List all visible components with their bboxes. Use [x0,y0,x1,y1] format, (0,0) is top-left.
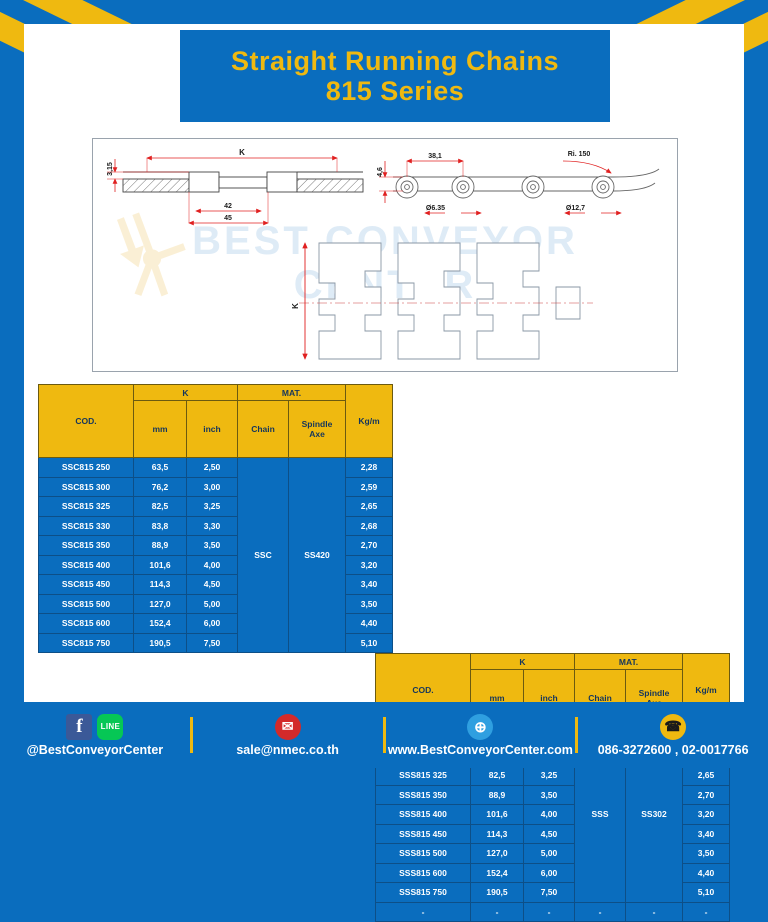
phone-icon[interactable]: ☎ [660,714,686,740]
cell-mm: 83,8 [134,516,187,536]
header-chain: Chain [238,401,289,458]
cell-mm: 76,2 [134,477,187,497]
cell-mm: 63,5 [134,458,187,478]
cell-cod: SSC815 250 [39,458,134,478]
title-line-2: 815 Series [326,76,465,106]
cell-kgm: 4,40 [346,614,393,634]
cell-kgm: 2,70 [346,536,393,556]
facebook-icon[interactable]: f [66,714,92,740]
cell-cod: SSS815 500 [376,844,471,864]
cell-mm: - [471,902,524,922]
cell-mm: 82,5 [134,497,187,517]
footer-social[interactable]: f LINE @BestConveyorCenter [0,714,190,757]
cell-mm: 152,4 [134,614,187,634]
globe-icon[interactable]: ⊕ [467,714,493,740]
dim-k-vertical: K [291,303,300,309]
cell-mm: 82,5 [471,766,524,786]
dim-roller-diameter: Ø12,7 [566,205,585,212]
cell-inch: 6,00 [187,614,238,634]
website-label: www.BestConveyorCenter.com [388,743,573,757]
cell-kgm: 3,50 [683,844,730,864]
table-header-row-1: COD. K MAT. Kg/m [39,385,393,401]
dim-radius: Ri. 150 [568,151,591,158]
side-section-view: 3,15 K 42 45 [107,148,363,223]
cell-inch: 7,50 [524,883,575,903]
cell-inch: 5,00 [524,844,575,864]
spec-table-ssc: COD. K MAT. Kg/m mm inch Chain Spindle A… [38,384,393,653]
contact-footer: f LINE @BestConveyorCenter ✉ sale@nmec.c… [0,702,768,768]
cell-mm: 127,0 [134,594,187,614]
cell-inch: 4,50 [187,575,238,595]
cell-mm: 114,3 [134,575,187,595]
cell-kgm: 2,28 [346,458,393,478]
drawing-svg: 3,15 K 42 45 [93,139,677,371]
cell-cod: SSC815 600 [39,614,134,634]
line-icon[interactable]: LINE [97,714,123,740]
chain-side-view: 4,6 38,1 Ri. 150 Ø6.35 Ø12,7 [377,151,659,213]
cell-inch: 3,50 [524,785,575,805]
cell-inch: 3,25 [187,497,238,517]
cell-cod: SSS815 750 [376,883,471,903]
header-axe: Axe [289,429,345,439]
cell-spindle: - [626,902,683,922]
cell-cod: SSS815 400 [376,805,471,825]
cell-inch: 2,50 [187,458,238,478]
cell-kgm: 3,40 [683,824,730,844]
table-row: ------ [376,902,730,922]
cell-inch: 3,00 [187,477,238,497]
cell-kgm: 5,10 [683,883,730,903]
cell-cod: - [376,902,471,922]
footer-email[interactable]: ✉ sale@nmec.co.th [193,714,383,757]
dim-k-horizontal: K [239,148,245,157]
cell-kgm: 2,65 [683,766,730,786]
email-label: sale@nmec.co.th [236,743,339,757]
dim-45: 45 [224,215,232,222]
cell-cod: SSC815 450 [39,575,134,595]
cell-inch: 4,50 [524,824,575,844]
header-mat-group: MAT. [575,654,683,670]
header-k-group: K [471,654,575,670]
cell-kgm: 3,20 [683,805,730,825]
cell-inch: 6,00 [524,863,575,883]
cell-kgm: 2,70 [683,785,730,805]
cell-kgm: 2,59 [346,477,393,497]
table-body-ssc: SSC815 25063,52,50SSCSS4202,28SSC815 300… [39,458,393,653]
cell-cod: SSC815 750 [39,633,134,653]
technical-drawing-panel: BEST CONVEYOR CENTER ⏧ [92,138,678,372]
page-root: Straight Running Chains 815 Series BEST … [0,0,768,768]
cell-mm: 101,6 [134,555,187,575]
cell-cod: SSS815 350 [376,785,471,805]
cell-mm: 114,3 [471,824,524,844]
header-spindle: Spindle [289,419,345,429]
cell-inch: - [524,902,575,922]
dim-plate-thickness: 4,6 [377,167,384,177]
email-icon[interactable]: ✉ [275,714,301,740]
cell-mm: 88,9 [471,785,524,805]
cell-mm: 152,4 [471,863,524,883]
cell-mm: 101,6 [471,805,524,825]
cell-cod: SSC815 330 [39,516,134,536]
cell-cod: SSS815 450 [376,824,471,844]
cell-kgm: 3,50 [346,594,393,614]
cell-cod: SSS815 325 [376,766,471,786]
cell-inch: 3,25 [524,766,575,786]
cell-kgm: 3,20 [346,555,393,575]
cell-cod: SSC815 400 [39,555,134,575]
header-spindle: Spindle [626,688,682,698]
header-k-group: K [134,385,238,401]
cell-inch: 7,50 [187,633,238,653]
cell-inch: 3,30 [187,516,238,536]
cell-kgm: - [683,902,730,922]
cell-kgm: 3,40 [346,575,393,595]
cell-cod: SSC815 500 [39,594,134,614]
header-cod: COD. [39,385,134,458]
cell-chain: - [575,902,626,922]
cell-mm: 88,9 [134,536,187,556]
footer-website[interactable]: ⊕ www.BestConveyorCenter.com [386,714,576,757]
cell-chain-material: SSC [238,458,289,653]
dim-pitch: 38,1 [428,153,442,160]
cell-kgm: 4,40 [683,863,730,883]
footer-phone[interactable]: ☎ 086-3272600 , 02-0017766 [578,714,768,757]
cell-inch: 4,00 [187,555,238,575]
cell-mm: 190,5 [134,633,187,653]
header-kgm: Kg/m [346,385,393,458]
dim-thickness: 3,15 [107,162,114,176]
cell-cod: SSC815 350 [39,536,134,556]
cell-kgm: 5,10 [346,633,393,653]
header-mm: mm [134,401,187,458]
dim-42: 42 [224,203,232,210]
cell-kgm: 2,68 [346,516,393,536]
table-row: SSC815 25063,52,50SSCSS4202,28 [39,458,393,478]
cell-mm: 190,5 [471,883,524,903]
social-handle-label: @BestConveyorCenter [27,743,164,757]
spec-tables: COD. K MAT. Kg/m mm inch Chain Spindle A… [38,384,730,922]
page-title: Straight Running Chains 815 Series [180,30,610,122]
cell-kgm: 2,65 [346,497,393,517]
cell-spindle-material: SS420 [289,458,346,653]
table-header-row-1: COD. K MAT. Kg/m [376,654,730,670]
header-mat-group: MAT. [238,385,346,401]
header-spindle-axe: Spindle Axe [289,401,346,458]
cell-inch: 3,50 [187,536,238,556]
cell-cod: SSC815 300 [39,477,134,497]
cell-inch: 4,00 [524,805,575,825]
dim-pin-diameter: Ø6.35 [426,205,445,212]
cell-inch: 5,00 [187,594,238,614]
social-icons: f LINE [66,714,123,740]
cell-cod: SSC815 325 [39,497,134,517]
title-line-1: Straight Running Chains [231,46,559,76]
header-inch: inch [187,401,238,458]
cell-mm: 127,0 [471,844,524,864]
chain-top-view [319,243,580,359]
spec-table-sss: COD. K MAT. Kg/m mm inch Chain Spindle A… [375,653,730,922]
cell-cod: SSS815 600 [376,863,471,883]
phone-label: 086-3272600 , 02-0017766 [598,743,749,757]
